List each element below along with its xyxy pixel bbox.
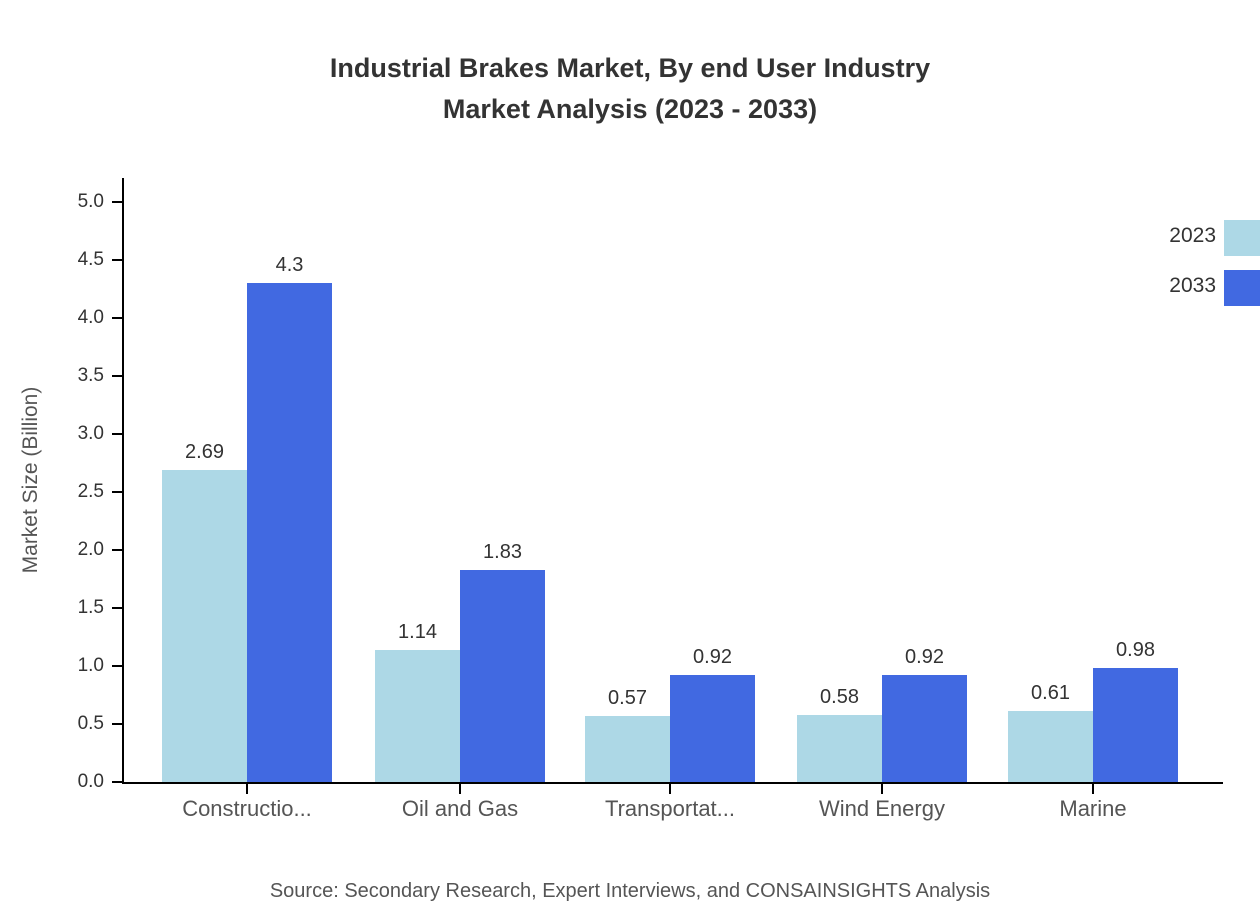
bar-2033-oil-and-gas[interactable] xyxy=(460,570,545,782)
legend-label: 2023 xyxy=(1120,225,1216,247)
bar-2033-transportat[interactable] xyxy=(670,675,755,782)
bar-2033-constructio[interactable] xyxy=(247,283,332,782)
bar-2033-wind-energy[interactable] xyxy=(882,675,967,782)
bar-2023-wind-energy[interactable] xyxy=(797,715,882,782)
legend-item-2023[interactable]: 2023 xyxy=(1120,218,1260,256)
bar-value-label: 4.3 xyxy=(230,255,350,275)
bar-2023-oil-and-gas[interactable] xyxy=(375,650,460,782)
bar-2033-marine[interactable] xyxy=(1093,668,1178,782)
bar-value-label: 0.92 xyxy=(653,647,773,667)
bar-value-label: 1.83 xyxy=(443,542,563,562)
legend-swatch xyxy=(1224,270,1260,306)
legend-item-2033[interactable]: 2033 xyxy=(1120,268,1260,306)
bars-layer: 2.691.140.570.580.614.31.830.920.920.98 xyxy=(0,0,1260,920)
bar-2023-transportat[interactable] xyxy=(585,716,670,782)
chart-figure: Industrial Brakes Market, By end User In… xyxy=(0,0,1260,920)
source-note: Source: Secondary Research, Expert Inter… xyxy=(0,878,1260,904)
bar-2023-constructio[interactable] xyxy=(162,470,247,782)
legend-label: 2033 xyxy=(1120,275,1216,297)
bar-value-label: 0.98 xyxy=(1076,640,1196,660)
chart-legend: 20232033 xyxy=(1120,218,1260,328)
legend-swatch xyxy=(1224,220,1260,256)
bar-value-label: 0.92 xyxy=(865,647,985,667)
bar-2023-marine[interactable] xyxy=(1008,711,1093,782)
